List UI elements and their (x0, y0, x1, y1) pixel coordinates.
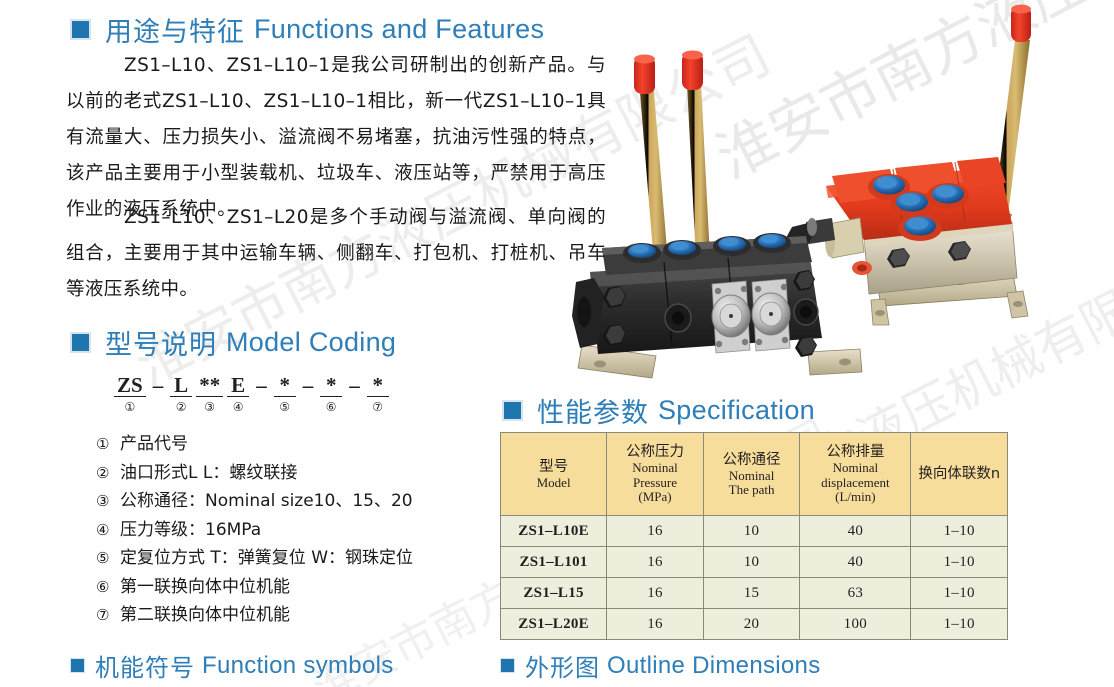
table-body: ZS1–L10E1610401–10ZS1–L1011610401–10ZS1–… (501, 516, 1008, 640)
coding-list-item: ④压力等级：16MPa (96, 516, 413, 545)
coding-token-number: ③ (204, 400, 215, 414)
coding-list-item: ①产品代号 (96, 430, 413, 459)
coding-list-number: ⑦ (96, 601, 120, 630)
section-heading-functions: 用途与特征 Functions and Features (70, 10, 544, 49)
table-cell: 100 (800, 609, 911, 640)
dark-valve (572, 51, 862, 379)
port-cap (898, 215, 942, 241)
column-header-en: Nominal (609, 461, 701, 476)
coding-token-number: ⑦ (372, 400, 383, 414)
column-header-en: (L/min) (802, 490, 908, 505)
functions-paragraph-2: ZS1–L10、ZS1–L20是多个手动阀与溢流阀、单向阀的组合，主要用于其中运… (66, 200, 606, 308)
column-header-cn: 公称排量 (802, 443, 908, 461)
table-column-header: 公称通径NominalThe path (703, 433, 800, 516)
model-coding-list: ①产品代号②油口形式L L：螺纹联接③公称通径：Nominal size10、1… (96, 430, 413, 630)
table-cell: 63 (800, 578, 911, 609)
coding-list-number: ⑥ (96, 573, 120, 602)
dark-valve-lever-1 (634, 55, 668, 265)
table-cell: 16 (607, 516, 704, 547)
table-cell: 1–10 (911, 578, 1008, 609)
coding-list-text: 油口形式L L：螺纹联接 (120, 459, 297, 488)
column-header-cn: 公称通径 (706, 451, 798, 469)
coding-list-number: ① (96, 430, 120, 459)
port-cap (891, 191, 933, 217)
coding-token-⑦: *⑦ (367, 374, 389, 414)
table-cell: 16 (607, 547, 704, 578)
coding-token-symbol: E (227, 374, 249, 397)
coding-dash: – (303, 374, 314, 396)
table-cell-model: ZS1–L15 (501, 578, 607, 609)
coding-token-number: ① (124, 400, 135, 414)
square-bullet-icon (70, 19, 91, 40)
product-photo (560, 0, 1114, 392)
heading-en: Model Coding (226, 327, 396, 358)
section-heading-outline-dimensions: 外形图 Outline Dimensions (500, 648, 821, 683)
port-cap (927, 183, 969, 209)
coding-token-number: ⑤ (279, 400, 290, 414)
coding-list-item: ③公称通径：Nominal size10、15、20 (96, 487, 413, 516)
table-header-row: 型号Model公称压力NominalPressure(MPa)公称通径Nomin… (501, 433, 1008, 516)
table-cell: 15 (703, 578, 800, 609)
port-cap (753, 233, 791, 253)
heading-en: Function symbols (202, 652, 394, 680)
coding-list-number: ⑤ (96, 544, 120, 573)
table-column-header: 公称排量Nominaldisplacement(L/min) (800, 433, 911, 516)
coding-token-④: E④ (227, 374, 249, 414)
coding-token-symbol: * (274, 374, 296, 397)
coding-list-item: ⑦第二联换向体中位机能 (96, 601, 413, 630)
column-header-en: Nominal (706, 469, 798, 484)
coding-list-number: ② (96, 459, 120, 488)
flanged-outlet (712, 281, 750, 353)
table-cell: 20 (703, 609, 800, 640)
coding-token-⑥: *⑥ (320, 374, 342, 414)
column-header-en: (MPa) (609, 490, 701, 505)
column-header-cn: 公称压力 (609, 443, 701, 461)
port-cap (713, 236, 751, 256)
coding-token-③: **③ (196, 374, 223, 414)
coding-token-symbol: * (320, 374, 342, 397)
coding-list-text: 第一联换向体中位机能 (120, 573, 290, 602)
table-row: ZS1–L151615631–10 (501, 578, 1008, 609)
coding-list-item: ⑤定复位方式 T：弹簧复位 W：钢珠定位 (96, 544, 413, 573)
coding-dash: – (256, 374, 267, 396)
table-cell: 1–10 (911, 547, 1008, 578)
coding-token-②: L② (170, 374, 192, 414)
table-cell-model: ZS1–L101 (501, 547, 607, 578)
coding-token-⑤: *⑤ (274, 374, 296, 414)
coding-list-item: ②油口形式L L：螺纹联接 (96, 459, 413, 488)
table-cell-model: ZS1–L10E (501, 516, 607, 547)
column-header-cn: 型号 (503, 458, 604, 476)
column-header-en: displacement (802, 476, 908, 491)
table-cell: 1–10 (911, 609, 1008, 640)
flanged-outlet (752, 279, 790, 351)
coding-token-number: ⑥ (326, 400, 337, 414)
coding-list-text: 产品代号 (120, 430, 188, 459)
page-root: 淮安市南方液压机械有限公司 淮安市南方液压机械有限公司 淮安市南方液压机械有限公… (0, 0, 1114, 687)
square-bullet-icon (70, 658, 85, 673)
square-bullet-icon (502, 400, 523, 421)
section-heading-function-symbols: 机能符号 Function symbols (70, 648, 394, 683)
column-header-en: Model (503, 476, 604, 491)
section-heading-specification: 性能参数 Specification (502, 391, 815, 430)
port-cap (663, 240, 701, 260)
square-bullet-icon (500, 658, 515, 673)
red-valve (786, 5, 1031, 326)
column-header-en: Nominal (802, 461, 908, 476)
coding-list-number: ③ (96, 487, 120, 516)
table-column-header: 公称压力NominalPressure(MPa) (607, 433, 704, 516)
heading-cn: 型号说明 (105, 323, 217, 362)
coding-token-symbol: ZS (114, 374, 146, 397)
heading-cn: 外形图 (525, 648, 600, 683)
coding-dash: – (349, 374, 360, 396)
table-row: ZS1–L20E16201001–10 (501, 609, 1008, 640)
table-cell: 16 (607, 578, 704, 609)
table-header: 型号Model公称压力NominalPressure(MPa)公称通径Nomin… (501, 433, 1008, 516)
coding-list-item: ⑥第一联换向体中位机能 (96, 573, 413, 602)
table-cell: 10 (703, 547, 800, 578)
coding-list-text: 定复位方式 T：弹簧复位 W：钢珠定位 (120, 544, 413, 573)
table-cell: 1–10 (911, 516, 1008, 547)
coding-token-symbol: ** (196, 374, 223, 397)
table-cell: 40 (800, 547, 911, 578)
table-cell: 40 (800, 516, 911, 547)
heading-en: Outline Dimensions (607, 652, 821, 680)
table-column-header: 换向体联数n (911, 433, 1008, 516)
coding-token-①: ZS① (114, 374, 146, 414)
heading-cn: 性能参数 (537, 391, 649, 430)
column-header-en: Pressure (609, 476, 701, 491)
coding-list-text: 第二联换向体中位机能 (120, 601, 290, 630)
table-cell-model: ZS1–L20E (501, 609, 607, 640)
coding-token-number: ④ (233, 400, 244, 414)
section-heading-model-coding: 型号说明 Model Coding (70, 323, 396, 362)
heading-cn: 机能符号 (95, 648, 195, 683)
column-header-cn: 换向体联数n (913, 465, 1005, 483)
model-coding-formula: ZS①–L②**③E④–*⑤–*⑥–*⑦ (112, 374, 391, 414)
table-column-header: 型号Model (501, 433, 607, 516)
coding-list-text: 压力等级：16MPa (120, 516, 261, 545)
port-cap (623, 243, 661, 263)
dark-valve-lever-2 (682, 51, 710, 261)
column-header-en: The path (706, 483, 798, 498)
heading-en: Specification (658, 395, 815, 426)
coding-token-symbol: L (170, 374, 192, 397)
heading-en: Functions and Features (254, 14, 544, 45)
coding-token-number: ② (176, 400, 187, 414)
heading-cn: 用途与特征 (105, 10, 245, 49)
table-row: ZS1–L10E1610401–10 (501, 516, 1008, 547)
table-row: ZS1–L1011610401–10 (501, 547, 1008, 578)
specification-table: 型号Model公称压力NominalPressure(MPa)公称通径Nomin… (500, 432, 1008, 640)
table-cell: 10 (703, 516, 800, 547)
coding-token-symbol: * (367, 374, 389, 397)
coding-list-number: ④ (96, 516, 120, 545)
coding-list-text: 公称通径：Nominal size10、15、20 (120, 487, 413, 516)
table-cell: 16 (607, 609, 704, 640)
coding-dash: – (153, 374, 164, 396)
square-bullet-icon (70, 332, 91, 353)
